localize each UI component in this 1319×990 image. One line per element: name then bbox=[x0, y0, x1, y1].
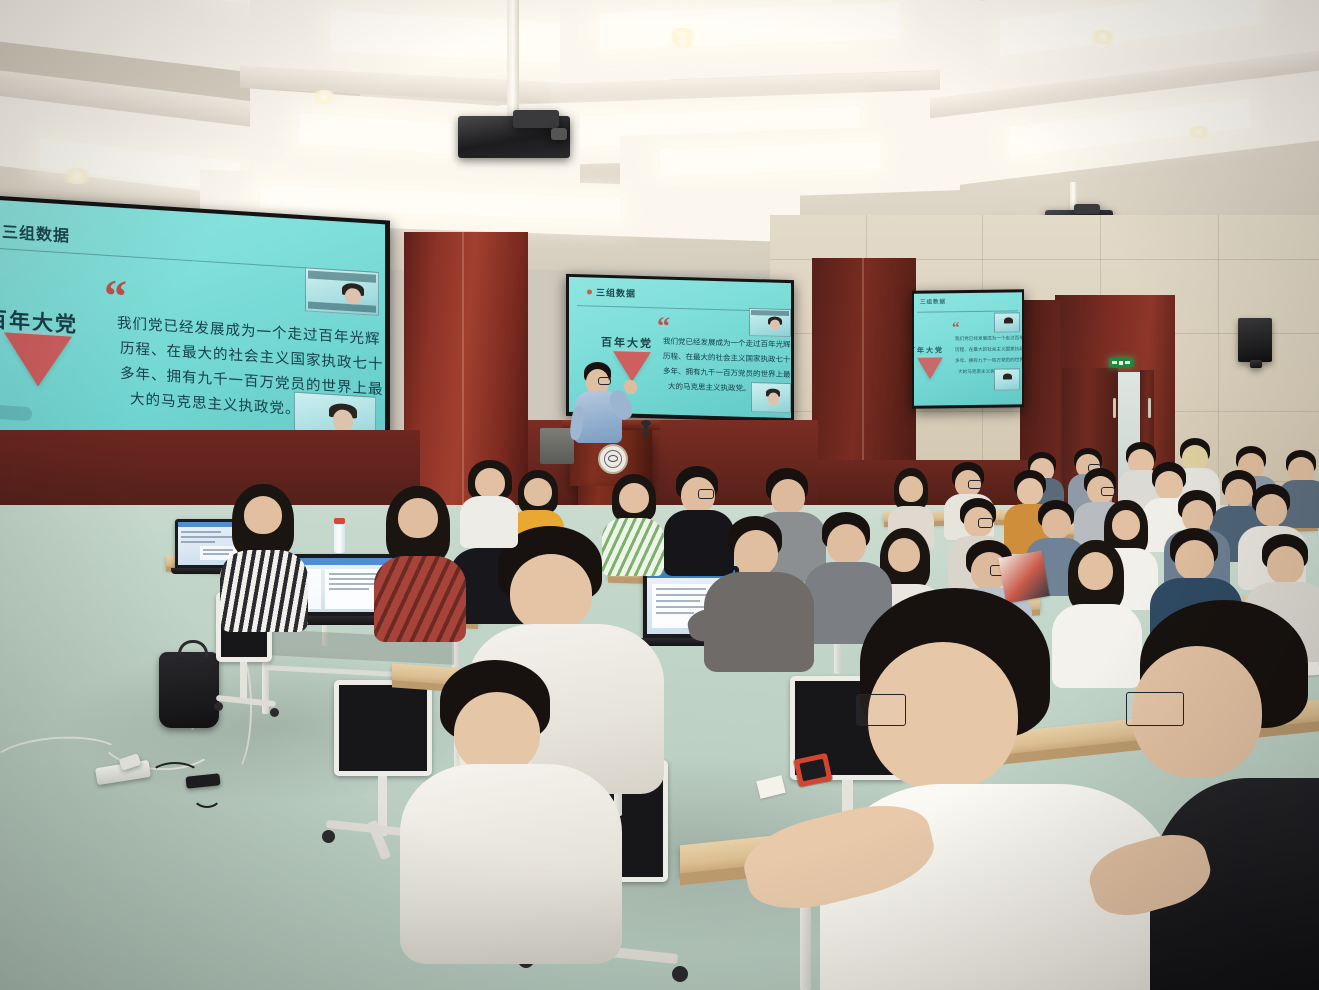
screen-right: 三组数据 百年大党 “ 我们党已经发展成为一个走过百年光辉 历程、在最大的社会主… bbox=[914, 292, 1022, 406]
glasses bbox=[856, 694, 906, 726]
glasses bbox=[1126, 692, 1184, 726]
quote-mark: “ bbox=[104, 281, 127, 312]
magazine bbox=[998, 551, 1049, 604]
backpack-floor bbox=[159, 652, 219, 728]
quote-line: 我们党已经发展成为一个走过百年光辉 bbox=[955, 335, 1022, 342]
quote-line: 历程、在最大的社会主义国家执政七十 bbox=[663, 351, 791, 366]
quote-line: 多年、拥有九千一百万党员的世界上最 bbox=[663, 366, 791, 381]
podium-emblem bbox=[598, 444, 628, 474]
door-handle-right[interactable] bbox=[1148, 398, 1151, 418]
quote-line: 历程、在最大的社会主义国家执政七十 bbox=[955, 346, 1022, 353]
quote-mark: “ bbox=[657, 317, 670, 335]
video-thumbnail-top bbox=[994, 312, 1020, 332]
video-thumbnail-bottom bbox=[994, 368, 1020, 390]
wall-speaker bbox=[1238, 318, 1272, 362]
podium-side-panel bbox=[540, 428, 574, 464]
quote-line: 多年、拥有九千一百万党员的世界上最 bbox=[955, 357, 1022, 364]
red-triangle-shape bbox=[4, 332, 72, 388]
water-bottle bbox=[334, 523, 345, 553]
quote-line: 大的马克思主义执政党。 bbox=[668, 381, 751, 394]
lecture-hall-photo: 三组数据 百年大党 “ 我们党已经发展成为一个走过百年光辉 历程、在最大的社会主… bbox=[0, 0, 1319, 990]
slide-footer-pill bbox=[0, 405, 32, 422]
slide-badge: 百年大党 bbox=[914, 345, 944, 356]
exit-sign bbox=[1109, 358, 1133, 367]
speaker-bracket bbox=[1250, 360, 1262, 368]
video-thumbnail-top bbox=[305, 267, 379, 316]
video-thumbnail-top bbox=[749, 308, 791, 337]
slide-header: 三组数据 bbox=[920, 297, 946, 305]
adapter-cable bbox=[150, 762, 200, 788]
microphone bbox=[644, 424, 648, 438]
slide-header: 三组数据 bbox=[2, 218, 70, 246]
presenter-glasses bbox=[598, 377, 611, 385]
screen-left-main: 三组数据 百年大党 “ 我们党已经发展成为一个走过百年光辉 历程、在最大的社会主… bbox=[0, 200, 385, 463]
door-handle-left[interactable] bbox=[1113, 398, 1116, 418]
slide-header: 三组数据 bbox=[596, 286, 636, 300]
bottle-cap bbox=[334, 518, 345, 524]
adapter-cable bbox=[192, 782, 222, 808]
quote-line: 我们党已经发展成为一个走过百年光辉 bbox=[663, 336, 791, 351]
video-thumbnail-bottom bbox=[751, 382, 791, 413]
quote-mark: “ bbox=[952, 323, 960, 334]
